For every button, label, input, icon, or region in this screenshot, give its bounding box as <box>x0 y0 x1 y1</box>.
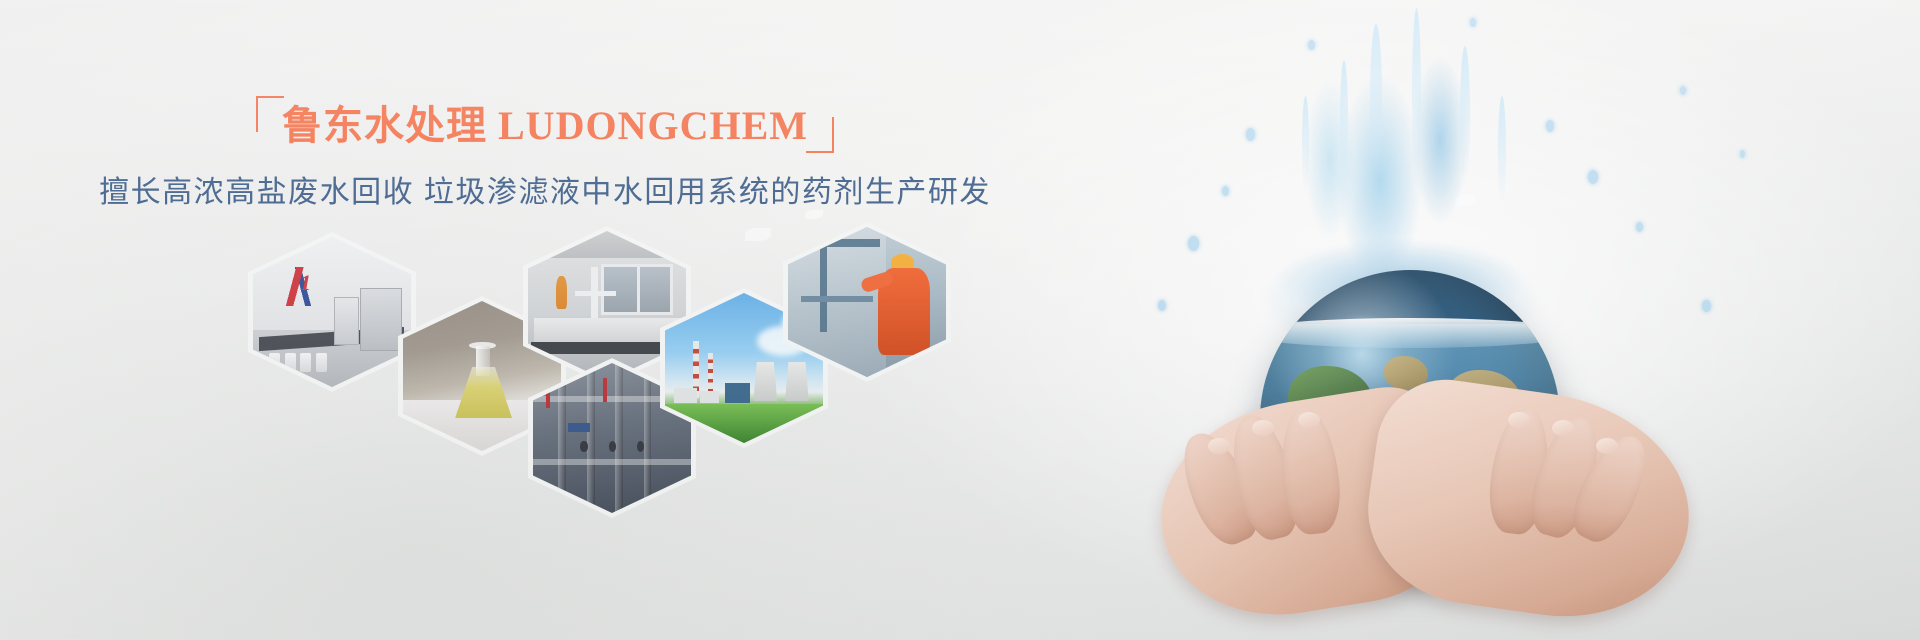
water-streak <box>1460 46 1470 186</box>
water-streak <box>1498 96 1506 206</box>
water-droplet <box>1158 300 1166 311</box>
fingernail <box>1552 420 1574 436</box>
water-streak <box>1370 24 1382 174</box>
gallery-tile-laboratory-room-with-slogan[interactable]: 1 <box>248 232 416 392</box>
water-droplet <box>1470 18 1476 27</box>
water-droplet <box>1222 186 1229 196</box>
water-droplet <box>1740 150 1745 158</box>
water-droplet <box>1246 128 1255 141</box>
water-streak <box>1340 60 1348 180</box>
hero-banner: 鲁东水处理 LUDONGCHEM 擅长高浓高盐废水回收 垃圾渗滤液中水回用系统的… <box>0 0 1920 640</box>
water-globe-artwork <box>1040 0 1920 640</box>
water-streak <box>1302 96 1309 192</box>
water-streak <box>1412 8 1421 188</box>
water-droplet <box>1702 300 1711 312</box>
fingernail <box>1298 412 1320 428</box>
fingernail <box>1252 420 1274 436</box>
water-droplet <box>1680 86 1686 95</box>
water-droplet <box>1588 170 1598 184</box>
water-droplet <box>1636 222 1643 232</box>
hexagon-gallery: 1 <box>0 0 1090 640</box>
water-droplet <box>1546 120 1554 132</box>
fingernail <box>1208 438 1230 454</box>
water-droplet <box>1308 40 1315 50</box>
fingernail <box>1508 412 1530 428</box>
water-droplet <box>1188 236 1199 251</box>
fingernail <box>1596 438 1618 454</box>
